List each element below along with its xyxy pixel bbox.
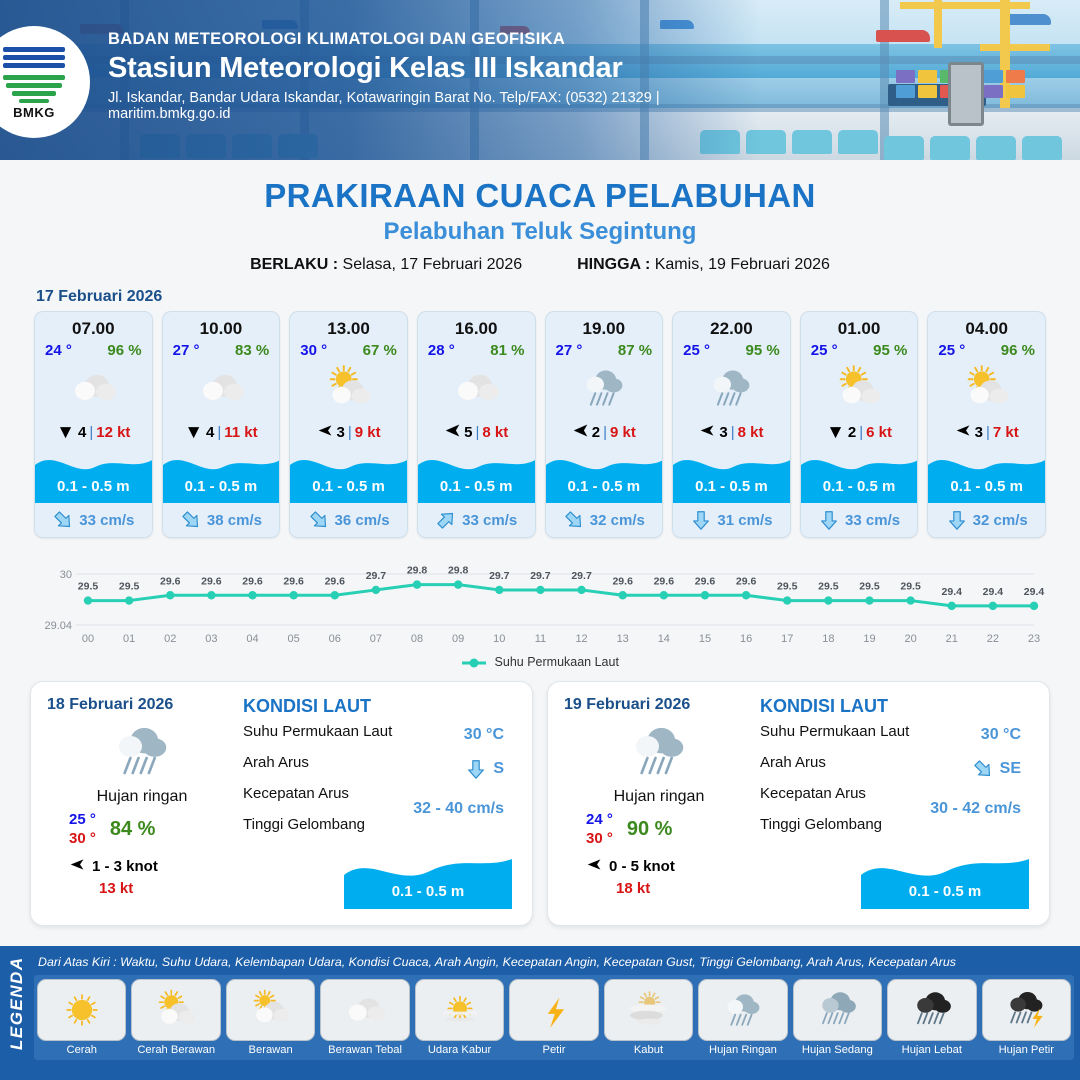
card-wind-speed: 3 <box>337 424 345 441</box>
chart-point-label: 29.6 <box>736 575 757 587</box>
legend-item-label: Hujan Petir <box>999 1044 1054 1056</box>
card-wind-separator: | <box>859 424 863 441</box>
card-time: 01.00 <box>801 312 918 339</box>
card-wave: 0.1 - 0.5 m <box>163 447 280 503</box>
chart-xtick: 13 <box>617 633 629 645</box>
weather-icon-hujan-ringan <box>622 714 696 788</box>
daily-wave-chip: 0.1 - 0.5 m <box>344 853 512 909</box>
card-gust: 6 kt <box>866 424 892 441</box>
daily-sea-conditions: KONDISI LAUTSuhu Permukaan Laut30 °CArah… <box>754 696 1033 911</box>
sst-value: 30 °C <box>981 726 1021 744</box>
weather-icon-berawan-tebal <box>193 360 249 416</box>
legend-icon-box <box>982 979 1071 1041</box>
daily-temp-max: 30 ° <box>586 830 613 849</box>
forecast-card[interactable]: 01.0025 °95 %▼2|6 kt0.1 - 0.5 m33 cm/s <box>800 311 919 538</box>
legend-item-label: Kabut <box>634 1044 663 1056</box>
chart-point <box>331 591 339 599</box>
chart-xtick: 09 <box>452 633 464 645</box>
weather-icon-hujan-ringan <box>576 360 632 416</box>
weather-icon-cerah-berawan <box>959 360 1015 416</box>
card-humidity: 83 % <box>235 342 269 359</box>
sst-chart: 3029.0429.50029.50129.60229.60329.60429.… <box>30 548 1050 653</box>
card-time: 07.00 <box>35 312 152 339</box>
card-gust: 11 kt <box>224 424 257 441</box>
card-current-speed: 33 cm/s <box>79 512 134 529</box>
card-wind-separator: | <box>603 424 607 441</box>
current-direction-arrow-n <box>946 509 968 531</box>
card-wave-height: 0.1 - 0.5 m <box>928 478 1045 495</box>
chart-xtick: 08 <box>411 633 423 645</box>
chart-point <box>413 580 421 588</box>
card-current-speed: 36 cm/s <box>335 512 390 529</box>
chart-xtick: 01 <box>123 633 135 645</box>
current-dir-value-wrap: SE <box>972 758 1021 780</box>
chart-point <box>660 591 668 599</box>
card-time: 13.00 <box>290 312 407 339</box>
card-wind: 5|8 kt <box>418 417 535 447</box>
chart-point <box>742 591 750 599</box>
card-gust: 8 kt <box>738 424 764 441</box>
daily-wave-chip: 0.1 - 0.5 m <box>861 853 1029 909</box>
card-current-speed: 32 cm/s <box>590 512 645 529</box>
card-wind-speed: 3 <box>719 424 727 441</box>
weather-icon-cerah-berawan <box>151 985 201 1035</box>
chart-ytick-top: 30 <box>60 569 72 581</box>
card-temperature: 28 ° <box>428 342 455 359</box>
chart-line <box>88 585 1034 606</box>
current-direction-arrow-se <box>180 509 202 531</box>
weather-icon-cerah-berawan <box>831 360 887 416</box>
forecast-card[interactable]: 10.0027 °83 %▼4|11 kt0.1 - 0.5 m38 cm/s <box>162 311 281 538</box>
card-wind: 3|7 kt <box>928 417 1045 447</box>
berlaku-label: BERLAKU : <box>250 256 338 273</box>
chart-xtick: 16 <box>740 633 752 645</box>
card-temp-humidity: 27 °87 % <box>546 339 663 359</box>
chart-point-label: 29.5 <box>900 581 921 593</box>
wind-direction-arrow-left-up <box>699 422 716 443</box>
card-current-speed: 31 cm/s <box>717 512 772 529</box>
legend-item-label: Berawan <box>249 1044 293 1056</box>
chart-point <box>372 586 380 594</box>
legend-items: CerahCerah BerawanBerawanBerawan TebalUd… <box>34 975 1074 1060</box>
wind-direction-arrow-left <box>444 422 461 443</box>
chart-point <box>125 596 133 604</box>
daily-wind: 1 - 3 knot <box>69 856 237 877</box>
card-wave-height: 0.1 - 0.5 m <box>35 478 152 495</box>
chart-point <box>207 591 215 599</box>
chart-point-label: 29.7 <box>366 570 387 582</box>
bmkg-logo-text: BMKG <box>13 105 55 120</box>
chart-point-label: 29.5 <box>777 581 798 593</box>
weather-icon-berawan-tebal <box>448 360 504 416</box>
weather-icon-cerah-berawan <box>321 360 377 416</box>
daily-date: 18 Februari 2026 <box>47 696 237 714</box>
card-temperature: 27 ° <box>556 342 583 359</box>
hingga-value: Kamis, 19 Februari 2026 <box>655 256 830 273</box>
chart-point-label: 29.6 <box>695 575 716 587</box>
hourly-forecast-row: 07.0024 °96 %▼4|12 kt0.1 - 0.5 m33 cm/s1… <box>0 311 1080 538</box>
chart-xtick: 23 <box>1028 633 1040 645</box>
card-wave: 0.1 - 0.5 m <box>546 447 663 503</box>
card-wind-separator: | <box>731 424 735 441</box>
card-temp-humidity: 30 °67 % <box>290 339 407 359</box>
current-direction-arrow-se <box>972 758 994 780</box>
chart-legend: Suhu Permukaan Laut <box>0 655 1080 669</box>
wind-direction-arrow-left-up <box>586 856 603 877</box>
weather-icon-udara-kabur <box>435 985 485 1035</box>
legend-side-bar: LEGENDA <box>0 946 34 1080</box>
station-address: Jl. Iskandar, Bandar Udara Iskandar, Kot… <box>108 90 748 122</box>
card-current: 36 cm/s <box>290 503 407 537</box>
daily-forecast-panel[interactable]: 19 Februari 2026Hujan ringan24 °30 °90 %… <box>547 681 1050 926</box>
legend-item-label: Hujan Lebat <box>902 1044 962 1056</box>
daily-wind: 0 - 5 knot <box>586 856 754 877</box>
forecast-card[interactable]: 04.0025 °96 %3|7 kt0.1 - 0.5 m32 cm/s <box>927 311 1046 538</box>
chart-xtick: 10 <box>493 633 505 645</box>
chart-point <box>577 586 585 594</box>
card-temperature: 30 ° <box>300 342 327 359</box>
chart-legend-label: Suhu Permukaan Laut <box>495 655 619 669</box>
card-wind-speed: 2 <box>848 424 856 441</box>
chart-ytick-bottom: 29.04 <box>44 620 72 632</box>
legend-item-label: Cerah <box>66 1044 96 1056</box>
chart-point <box>454 580 462 588</box>
card-wind: ▼4|12 kt <box>35 417 152 447</box>
chart-point-label: 29.6 <box>242 575 263 587</box>
chart-point <box>824 596 832 604</box>
card-temperature: 25 ° <box>811 342 838 359</box>
chart-xtick: 03 <box>205 633 217 645</box>
chart-point-label: 29.5 <box>818 581 839 593</box>
weather-icon-berawan-tebal <box>340 985 390 1035</box>
weather-icon-kabut <box>623 985 673 1035</box>
legend-item: Udara Kabur <box>415 979 504 1056</box>
legend-item-label: Petir <box>542 1044 565 1056</box>
legend-icon-box <box>131 979 220 1041</box>
card-wind: 3|9 kt <box>290 417 407 447</box>
card-wind-speed: 4 <box>206 424 214 441</box>
daily-forecast-row: 18 Februari 2026Hujan ringan25 °30 °84 %… <box>0 669 1080 926</box>
current-direction-arrow-s <box>465 758 487 780</box>
chart-xtick: 06 <box>329 633 341 645</box>
card-gust: 7 kt <box>993 424 1019 441</box>
card-temperature: 24 ° <box>45 342 72 359</box>
card-wind-separator: | <box>348 424 352 441</box>
chart-xtick: 21 <box>946 633 958 645</box>
legend-item-label: Udara Kabur <box>428 1044 491 1056</box>
card-weather-icon <box>801 359 918 417</box>
current-dir-value: SE <box>1000 760 1021 778</box>
card-humidity: 87 % <box>618 342 652 359</box>
chart-xtick: 17 <box>781 633 793 645</box>
card-wind-separator: | <box>475 424 479 441</box>
current-speed-value: 30 - 42 cm/s <box>930 800 1021 818</box>
daily-sea-conditions: KONDISI LAUTSuhu Permukaan Laut30 °CArah… <box>237 696 516 911</box>
weather-icon-hujan-ringan <box>718 985 768 1035</box>
wave-label: Tinggi Gelombang <box>760 816 1033 833</box>
daily-temp-min: 25 ° <box>69 811 96 830</box>
legend-side-title: LEGENDA <box>7 950 27 1050</box>
card-temperature: 25 ° <box>938 342 965 359</box>
chart-point-label: 29.8 <box>448 565 469 577</box>
card-wind-speed: 3 <box>975 424 983 441</box>
forecast-card[interactable]: 19.0027 °87 %2|9 kt0.1 - 0.5 m32 cm/s <box>545 311 664 538</box>
daily-temps: 25 °30 °84 % <box>69 811 237 849</box>
card-temp-humidity: 25 °95 % <box>673 339 790 359</box>
wind-direction-arrow-down: ▼ <box>56 423 75 442</box>
agency-name: BADAN METEOROLOGI KLIMATOLOGI DAN GEOFIS… <box>108 30 748 49</box>
card-time: 16.00 <box>418 312 535 339</box>
weather-icon-berawan <box>246 985 296 1035</box>
daily-left: 18 Februari 2026Hujan ringan25 °30 °84 %… <box>47 696 237 911</box>
chart-point-label: 29.5 <box>78 581 99 593</box>
chart-xtick: 05 <box>288 633 300 645</box>
chart-point <box>618 591 626 599</box>
card-humidity: 95 % <box>746 342 780 359</box>
daily-temp-max: 30 ° <box>69 830 96 849</box>
card-wind: ▼2|6 kt <box>801 417 918 447</box>
legend-item-label: Hujan Ringan <box>709 1044 777 1056</box>
chart-point <box>906 596 914 604</box>
legend-item: Hujan Sedang <box>793 979 882 1056</box>
card-wind-speed: 2 <box>592 424 600 441</box>
forecast-card[interactable]: 16.0028 °81 %5|8 kt0.1 - 0.5 m33 cm/s <box>417 311 536 538</box>
wind-direction-arrow-down: ▼ <box>826 423 845 442</box>
chart-xtick: 19 <box>863 633 875 645</box>
wind-direction-arrow-left <box>572 422 589 443</box>
card-weather-icon <box>418 359 535 417</box>
weather-icon-hujan-ringan <box>703 360 759 416</box>
card-gust: 8 kt <box>482 424 508 441</box>
daily-gust: 18 kt <box>616 880 754 897</box>
card-wave: 0.1 - 0.5 m <box>673 447 790 503</box>
chart-xtick: 15 <box>699 633 711 645</box>
wind-direction-arrow-left-up <box>955 422 972 443</box>
legend-item: Cerah Berawan <box>131 979 220 1056</box>
card-temp-humidity: 27 °83 % <box>163 339 280 359</box>
chart-xtick: 00 <box>82 633 94 645</box>
daily-left: 19 Februari 2026Hujan ringan24 °30 °90 %… <box>564 696 754 911</box>
card-current: 33 cm/s <box>35 503 152 537</box>
chart-point <box>248 591 256 599</box>
daily-gust: 13 kt <box>99 880 237 897</box>
card-wave-height: 0.1 - 0.5 m <box>801 478 918 495</box>
legend-item-label: Hujan Sedang <box>802 1044 873 1056</box>
card-humidity: 96 % <box>107 342 141 359</box>
card-wind: 3|8 kt <box>673 417 790 447</box>
chart-point <box>701 591 709 599</box>
card-weather-icon <box>35 359 152 417</box>
weather-icon-berawan-tebal <box>65 360 121 416</box>
chart-point-label: 29.4 <box>983 586 1004 598</box>
weather-icon-hujan-lebat <box>907 985 957 1035</box>
chart-xtick: 04 <box>246 633 258 645</box>
chart-point <box>989 602 997 610</box>
card-current: 38 cm/s <box>163 503 280 537</box>
daily-forecast-panel[interactable]: 18 Februari 2026Hujan ringan25 °30 °84 %… <box>30 681 533 926</box>
legend-item-label: Cerah Berawan <box>137 1044 215 1056</box>
weather-icon-hujan-petir <box>1001 985 1051 1035</box>
forecast-date-label: 17 Februari 2026 <box>36 288 1080 306</box>
daily-wave-value: 0.1 - 0.5 m <box>861 883 1029 900</box>
weather-icon-hujan-ringan <box>105 714 179 788</box>
card-weather-icon <box>673 359 790 417</box>
legend-icon-box <box>226 979 315 1041</box>
legend-icon-box <box>320 979 409 1041</box>
card-current: 31 cm/s <box>673 503 790 537</box>
current-direction-arrow-ne <box>435 509 457 531</box>
card-wind-separator: | <box>986 424 990 441</box>
bmkg-logo-mark <box>3 45 65 103</box>
card-weather-icon <box>290 359 407 417</box>
card-wind: ▼4|11 kt <box>163 417 280 447</box>
card-wind-separator: | <box>89 424 93 441</box>
legend-item: Hujan Petir <box>982 979 1071 1056</box>
legend-item: Kabut <box>604 979 693 1056</box>
daily-temp-min: 24 ° <box>586 811 613 830</box>
daily-wind-range: 0 - 5 knot <box>609 858 675 875</box>
legend-icon-box <box>604 979 693 1041</box>
card-temp-humidity: 25 °95 % <box>801 339 918 359</box>
page-title: PRAKIRAAN CUACA PELABUHAN <box>0 177 1080 215</box>
chart-point <box>783 596 791 604</box>
card-time: 22.00 <box>673 312 790 339</box>
current-direction-arrow-s <box>690 509 712 531</box>
card-humidity: 95 % <box>873 342 907 359</box>
berlaku-value: Selasa, 17 Februari 2026 <box>343 256 523 273</box>
legend-item-label: Berawan Tebal <box>328 1044 402 1056</box>
chart-xtick: 20 <box>904 633 916 645</box>
chart-point-label: 29.6 <box>201 575 222 587</box>
card-wave-height: 0.1 - 0.5 m <box>546 478 663 495</box>
chart-point-label: 29.6 <box>654 575 675 587</box>
card-wave: 0.1 - 0.5 m <box>928 447 1045 503</box>
current-dir-value: S <box>493 760 504 778</box>
card-current-speed: 33 cm/s <box>462 512 517 529</box>
chart-point <box>865 596 873 604</box>
sea-title: KONDISI LAUT <box>760 696 1033 717</box>
card-wave: 0.1 - 0.5 m <box>801 447 918 503</box>
chart-point-label: 29.7 <box>530 570 551 582</box>
card-wind-speed: 5 <box>464 424 472 441</box>
card-wave: 0.1 - 0.5 m <box>418 447 535 503</box>
wind-direction-arrow-left-up <box>317 422 334 443</box>
daily-humidity: 90 % <box>627 818 673 841</box>
daily-wind-range: 1 - 3 knot <box>92 858 158 875</box>
card-wave: 0.1 - 0.5 m <box>290 447 407 503</box>
current-direction-arrow-se <box>52 509 74 531</box>
chart-point-label: 29.4 <box>1024 586 1045 598</box>
card-time: 04.00 <box>928 312 1045 339</box>
weather-icon-petir <box>529 985 579 1035</box>
current-dir-value-wrap: S <box>465 758 504 780</box>
chart-point-label: 29.7 <box>571 570 592 582</box>
chart-xtick: 07 <box>370 633 382 645</box>
card-weather-icon <box>163 359 280 417</box>
sea-title: KONDISI LAUT <box>243 696 516 717</box>
current-direction-arrow-se <box>308 509 330 531</box>
daily-wave-value: 0.1 - 0.5 m <box>344 883 512 900</box>
legend-icon-box <box>793 979 882 1041</box>
chart-legend-marker <box>461 657 487 669</box>
chart-point <box>166 591 174 599</box>
current-direction-arrow-se <box>563 509 585 531</box>
card-temp-humidity: 24 °96 % <box>35 339 152 359</box>
chart-xtick: 22 <box>987 633 999 645</box>
chart-point-label: 29.6 <box>612 575 633 587</box>
card-current: 33 cm/s <box>801 503 918 537</box>
card-humidity: 67 % <box>363 342 397 359</box>
card-wave-height: 0.1 - 0.5 m <box>673 478 790 495</box>
daily-weather-icon <box>564 716 754 786</box>
card-weather-icon <box>928 359 1045 417</box>
forecast-card[interactable]: 22.0025 °95 %3|8 kt0.1 - 0.5 m31 cm/s <box>672 311 791 538</box>
daily-humidity: 84 % <box>110 818 156 841</box>
card-gust: 9 kt <box>610 424 636 441</box>
chart-point <box>1030 602 1038 610</box>
card-wave-height: 0.1 - 0.5 m <box>418 478 535 495</box>
card-wave: 0.1 - 0.5 m <box>35 447 152 503</box>
chart-xtick: 12 <box>575 633 587 645</box>
chart-xtick: 14 <box>658 633 670 645</box>
card-current: 32 cm/s <box>546 503 663 537</box>
card-current: 32 cm/s <box>928 503 1045 537</box>
card-current: 33 cm/s <box>418 503 535 537</box>
sst-value: 30 °C <box>464 726 504 744</box>
card-wind-separator: | <box>217 424 221 441</box>
chart-point-label: 29.5 <box>119 581 140 593</box>
current-speed-value: 32 - 40 cm/s <box>413 800 504 818</box>
forecast-card[interactable]: 13.0030 °67 %3|9 kt0.1 - 0.5 m36 cm/s <box>289 311 408 538</box>
card-time: 19.00 <box>546 312 663 339</box>
card-gust: 9 kt <box>355 424 381 441</box>
chart-point-label: 29.8 <box>407 565 428 577</box>
hingga-label: HINGGA : <box>577 256 650 273</box>
chart-point-label: 29.4 <box>942 586 963 598</box>
current-direction-arrow-s <box>818 509 840 531</box>
daily-temps: 24 °30 °90 % <box>586 811 754 849</box>
card-temperature: 25 ° <box>683 342 710 359</box>
legend-section: LEGENDA Dari Atas Kiri : Waktu, Suhu Uda… <box>0 946 1080 1080</box>
legend-icon-box <box>37 979 126 1041</box>
legend-icon-box <box>698 979 787 1041</box>
card-wind: 2|9 kt <box>546 417 663 447</box>
chart-point-label: 29.6 <box>283 575 304 587</box>
card-current-speed: 33 cm/s <box>845 512 900 529</box>
legend-item: Berawan Tebal <box>320 979 409 1056</box>
weather-icon-hujan-sedang <box>812 985 862 1035</box>
wave-label: Tinggi Gelombang <box>243 816 516 833</box>
card-time: 10.00 <box>163 312 280 339</box>
legend-icon-box <box>509 979 598 1041</box>
chart-xtick: 18 <box>822 633 834 645</box>
chart-point <box>948 602 956 610</box>
chart-point-label: 29.7 <box>489 570 510 582</box>
card-wind-speed: 4 <box>78 424 86 441</box>
station-name: Stasiun Meteorologi Kelas III Iskandar <box>108 52 748 85</box>
chart-point-label: 29.5 <box>859 581 880 593</box>
page-subtitle: Pelabuhan Teluk Segintung <box>0 218 1080 246</box>
chart-point <box>536 586 544 594</box>
daily-weather-icon <box>47 716 237 786</box>
card-wave-height: 0.1 - 0.5 m <box>163 478 280 495</box>
daily-condition: Hujan ringan <box>47 788 237 806</box>
legend-item: Berawan <box>226 979 315 1056</box>
card-weather-icon <box>546 359 663 417</box>
card-current-speed: 32 cm/s <box>973 512 1028 529</box>
forecast-card[interactable]: 07.0024 °96 %▼4|12 kt0.1 - 0.5 m33 cm/s <box>34 311 153 538</box>
legend-item: Hujan Lebat <box>887 979 976 1056</box>
